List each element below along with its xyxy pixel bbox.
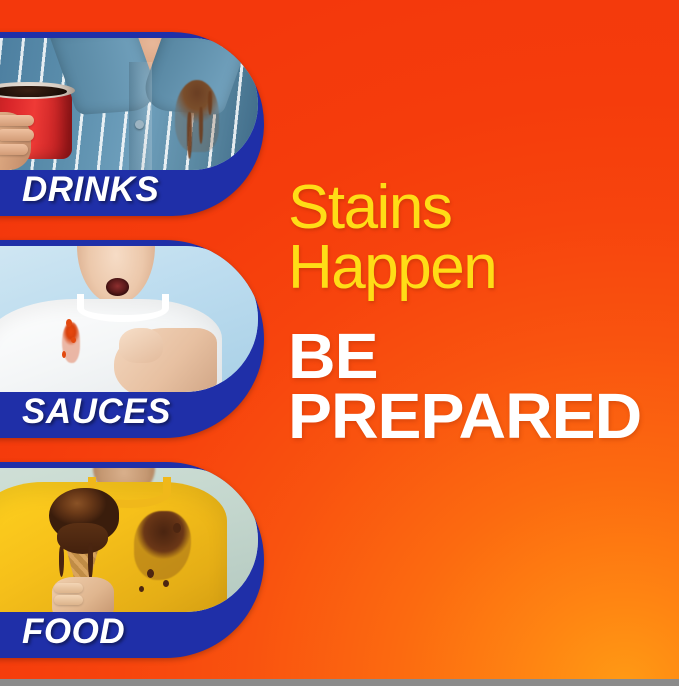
scene-food	[0, 468, 258, 612]
panel-sauces[interactable]: SAUCES	[0, 240, 264, 438]
knuckle	[54, 583, 82, 593]
panel-food[interactable]: FOOD	[0, 462, 264, 658]
coffee-drip	[199, 107, 203, 144]
chocolate-droplet	[163, 580, 169, 587]
subheadline: BE PREPARED	[288, 326, 679, 446]
child-fingers	[119, 328, 163, 363]
sauce-droplet	[71, 337, 76, 343]
panel-drinks-image	[0, 38, 258, 170]
chocolate-drip	[88, 543, 93, 580]
panel-sauces-image	[0, 246, 258, 392]
coffee-stain	[175, 80, 219, 151]
panel-food-image	[0, 468, 258, 612]
panel-label-drinks: DRINKS	[0, 170, 159, 210]
subheadline-line-1: BE	[288, 326, 679, 386]
headline-line-2: Happen	[288, 233, 496, 302]
coffee-drip	[208, 91, 212, 115]
finger	[0, 115, 34, 127]
t-shirt-collar	[77, 294, 168, 321]
knuckle	[54, 595, 82, 605]
chocolate-droplet	[173, 523, 181, 533]
finger	[0, 144, 28, 156]
panel-label-sauces: SAUCES	[0, 392, 171, 432]
copy-block: Stains Happen BE PREPARED	[288, 178, 679, 447]
sauce-droplet	[62, 351, 66, 358]
scene-drinks	[0, 38, 258, 170]
headline-line-1: Stains	[288, 173, 451, 242]
chocolate-droplet	[147, 569, 154, 578]
panel-label-food: FOOD	[0, 612, 125, 652]
subheadline-line-2: PREPARED	[288, 386, 679, 446]
shirt-placket	[129, 62, 152, 170]
scene-sauces	[0, 246, 258, 392]
headline: Stains Happen	[288, 178, 679, 298]
sauce-droplet	[66, 319, 72, 327]
advertisement-banner: DRINKS SAUCES	[0, 0, 679, 686]
panel-drinks[interactable]: DRINKS	[0, 32, 264, 216]
child-mouth	[106, 278, 129, 296]
bottom-strip	[0, 679, 679, 686]
finger	[0, 129, 34, 141]
